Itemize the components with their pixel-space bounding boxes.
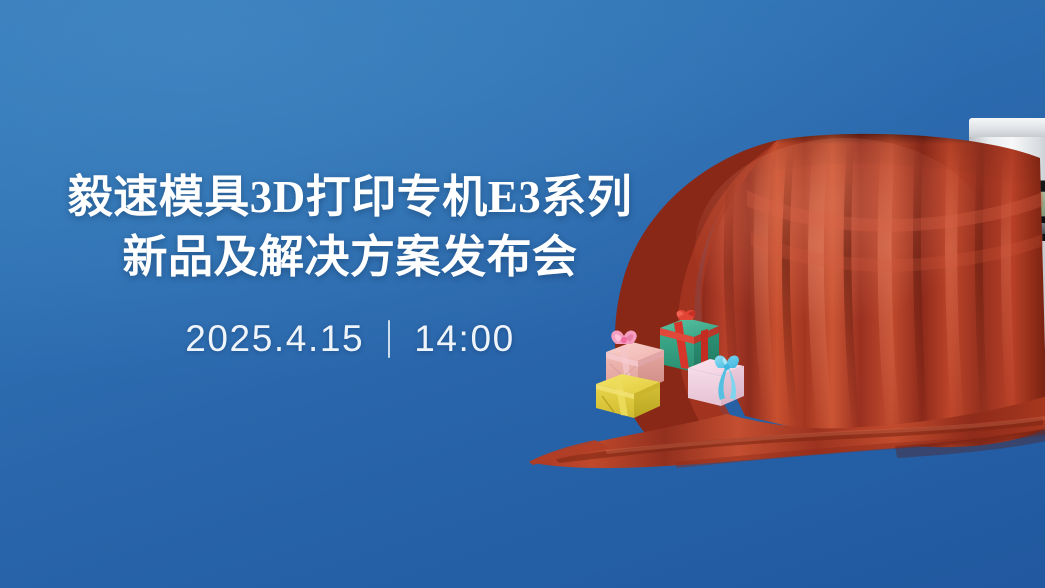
datetime-separator xyxy=(388,320,390,358)
headline-line-2: 新品及解决方案发布会 xyxy=(0,228,700,288)
banner-copy: 毅速模具3D打印专机E3系列 新品及解决方案发布会 2025.4.15 14:0… xyxy=(0,168,700,360)
event-date: 2025.4.15 xyxy=(185,318,364,360)
event-time: 14:00 xyxy=(414,318,515,360)
event-datetime: 2025.4.15 14:00 xyxy=(0,318,700,360)
event-banner: 毅速模具3D打印专机E3系列 新品及解决方案发布会 2025.4.15 14:0… xyxy=(0,0,1045,588)
yellow-gift-box xyxy=(596,374,660,418)
headline-line-1: 毅速模具3D打印专机E3系列 xyxy=(0,168,700,228)
